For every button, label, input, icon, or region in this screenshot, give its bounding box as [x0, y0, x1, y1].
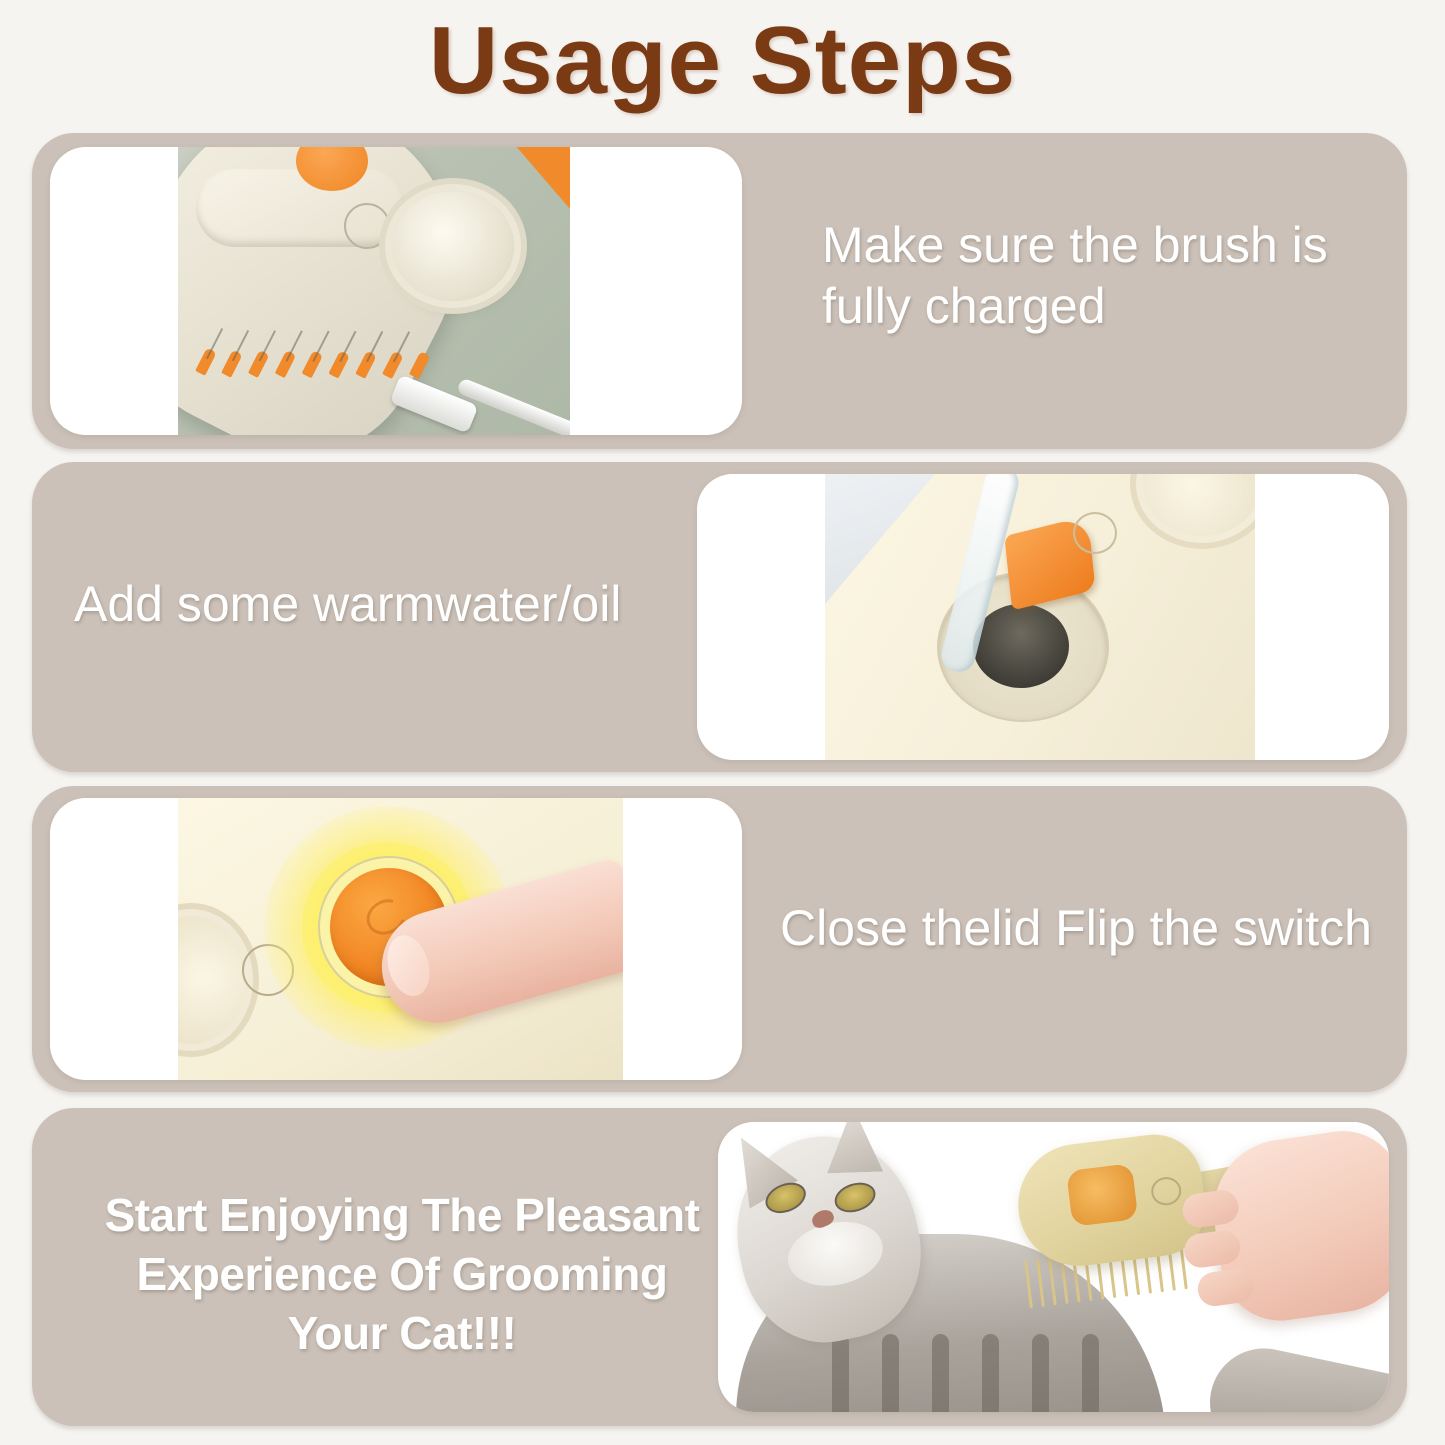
orange-corner-accent [498, 147, 570, 209]
step-4-caption-line-3: Your Cat!!! [92, 1304, 712, 1363]
brush-indicator-ring [1150, 1175, 1183, 1206]
cat-tail [1200, 1338, 1389, 1412]
step-4-image-card [718, 1122, 1389, 1412]
step-4-caption-line-2: Experience Of Grooming [92, 1245, 712, 1304]
fill-hole-inner [973, 604, 1069, 688]
step-panel-3: Close thelid Flip the switch [32, 786, 1407, 1092]
brush-indicator-ring [344, 203, 390, 249]
cat-muzzle [782, 1214, 889, 1295]
background-corner [825, 474, 935, 604]
water-fill-icon [697, 474, 1389, 760]
step-panel-1: Make sure the brush is fully charged [32, 133, 1407, 449]
step-1-photo [178, 147, 570, 435]
step-4-caption-line-1: Start Enjoying The Pleasant [92, 1186, 712, 1245]
step-1-image-card [50, 147, 742, 435]
step-3-photo [178, 798, 623, 1080]
step-panel-4: Start Enjoying The Pleasant Experience O… [32, 1108, 1407, 1426]
step-1-caption: Make sure the brush is fully charged [822, 215, 1402, 337]
step-2-image-card [697, 474, 1389, 760]
usb-cable [376, 375, 570, 429]
cat-ear-right [825, 1122, 883, 1173]
step-3-image-card [50, 798, 742, 1080]
brush-power-button [1066, 1163, 1138, 1227]
page-title: Usage Steps [0, 6, 1445, 116]
brush-cap-knob [178, 916, 246, 1044]
brush-cap-knob [1143, 474, 1255, 536]
usage-steps-page: Usage Steps [0, 0, 1445, 1445]
power-button-icon [50, 798, 742, 1080]
cat-eye-right [831, 1178, 880, 1218]
step-2-photo [825, 474, 1255, 760]
fingernail [381, 930, 437, 1001]
step-4-caption: Start Enjoying The Pleasant Experience O… [92, 1186, 712, 1363]
step-2-caption: Add some warmwater/oil [74, 574, 694, 635]
charging-cable-icon [50, 147, 742, 435]
brush-cap-knob [392, 191, 514, 301]
human-hand [1204, 1124, 1389, 1329]
cat-grooming-icon [718, 1122, 1389, 1412]
step-panel-2: Add some warmwater/oil [32, 462, 1407, 772]
brush-indicator-ring [1073, 512, 1117, 554]
step-3-caption: Close thelid Flip the switch [780, 898, 1400, 959]
